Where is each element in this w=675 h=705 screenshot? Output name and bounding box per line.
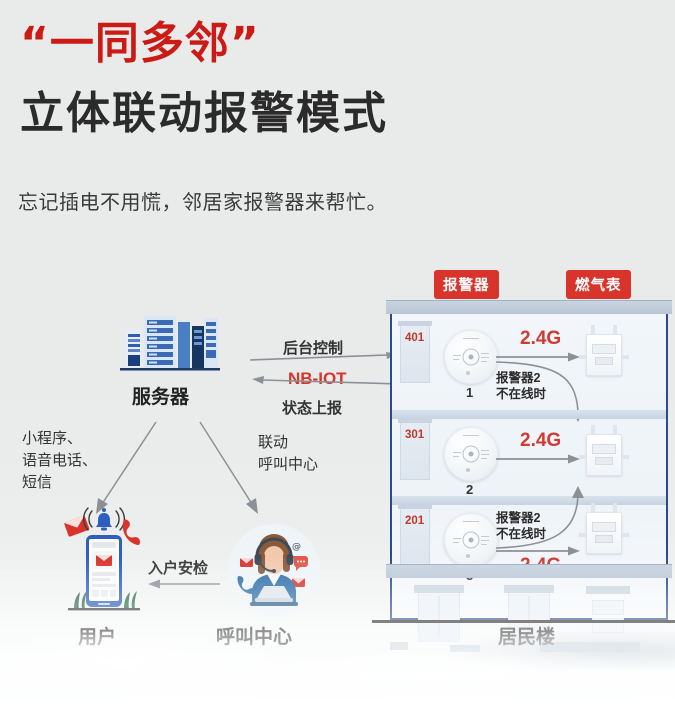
wireless-label-301: 2.4G (520, 430, 561, 452)
server-to-user-label-line2: 语音电话、 (22, 450, 97, 472)
server-to-user-label-line3: 短信 (22, 472, 97, 494)
server-label: 服务器 (132, 382, 189, 409)
uplink-label: 状态上报 (282, 397, 342, 418)
residential-building: 401 1 2.4G 报警器2 不在线时 301 (390, 300, 668, 620)
user-illustration (62, 505, 146, 613)
phone-handset-icon (118, 519, 144, 545)
callcenter-link-line1: 联动 (258, 432, 318, 454)
headset-operator-icon: @ (228, 524, 320, 616)
roof-slab (386, 300, 672, 314)
alarm-device-3 (444, 513, 498, 567)
fallback-arrow-201 (496, 486, 588, 552)
gas-meter-401 (586, 334, 622, 376)
alarm-device-1 (444, 330, 498, 384)
alarm-device-2 (444, 427, 498, 481)
alarm-number-1: 1 (466, 385, 473, 400)
headline-text: 一同多邻 (50, 19, 230, 68)
alarm-number-2: 2 (466, 482, 473, 497)
callcenter-label: 呼叫中心 (216, 622, 292, 649)
gas-meter-201 (586, 512, 622, 554)
server-rack-icon (118, 308, 222, 376)
floor-number-401: 401 (405, 332, 424, 344)
floor-divider-1 (392, 410, 666, 419)
floor-number-301: 301 (405, 429, 424, 441)
inspection-label: 入户安检 (148, 557, 208, 578)
smartphone-icon (86, 535, 122, 607)
ground-window-3-top (586, 586, 630, 594)
uplink-arrow (250, 375, 400, 387)
server-to-user-label-line1: 小程序、 (22, 428, 97, 450)
user-label: 用户 (78, 622, 116, 649)
page-tagline: 忘记插电不用慌，邻居家报警器来帮忙。 (18, 186, 387, 215)
callcenter-link-line2: 呼叫中心 (258, 454, 318, 476)
svg-text:@: @ (292, 542, 301, 552)
ground-floor-slab (386, 564, 672, 578)
headline-close-quote: ” (230, 18, 260, 69)
inspection-arrow (148, 578, 220, 590)
server-to-callcenter-label: 联动 呼叫中心 (258, 432, 318, 476)
gas-meter-301 (586, 434, 622, 476)
building-label: 居民楼 (498, 622, 555, 649)
server-to-user-arrow (88, 418, 168, 518)
page-headline: “一同多邻” (20, 22, 260, 66)
alarm-badge: 报警器 (434, 270, 499, 299)
wireless-label-401: 2.4G (520, 328, 561, 350)
wireless-arrow-301 (496, 454, 582, 464)
headline-open-quote: “ (20, 18, 50, 69)
page-subheadline: 立体联动报警模式 (20, 92, 388, 136)
ground-window-1 (418, 592, 460, 642)
downlink-arrow (250, 352, 400, 362)
gasmeter-badge: 燃气表 (566, 270, 631, 299)
bell-icon (84, 508, 125, 531)
step-2 (450, 645, 480, 652)
floor-number-201: 201 (405, 515, 424, 527)
step-1 (390, 642, 408, 650)
ground-window-3a (592, 600, 624, 615)
server-to-user-label: 小程序、 语音电话、 短信 (22, 428, 97, 494)
